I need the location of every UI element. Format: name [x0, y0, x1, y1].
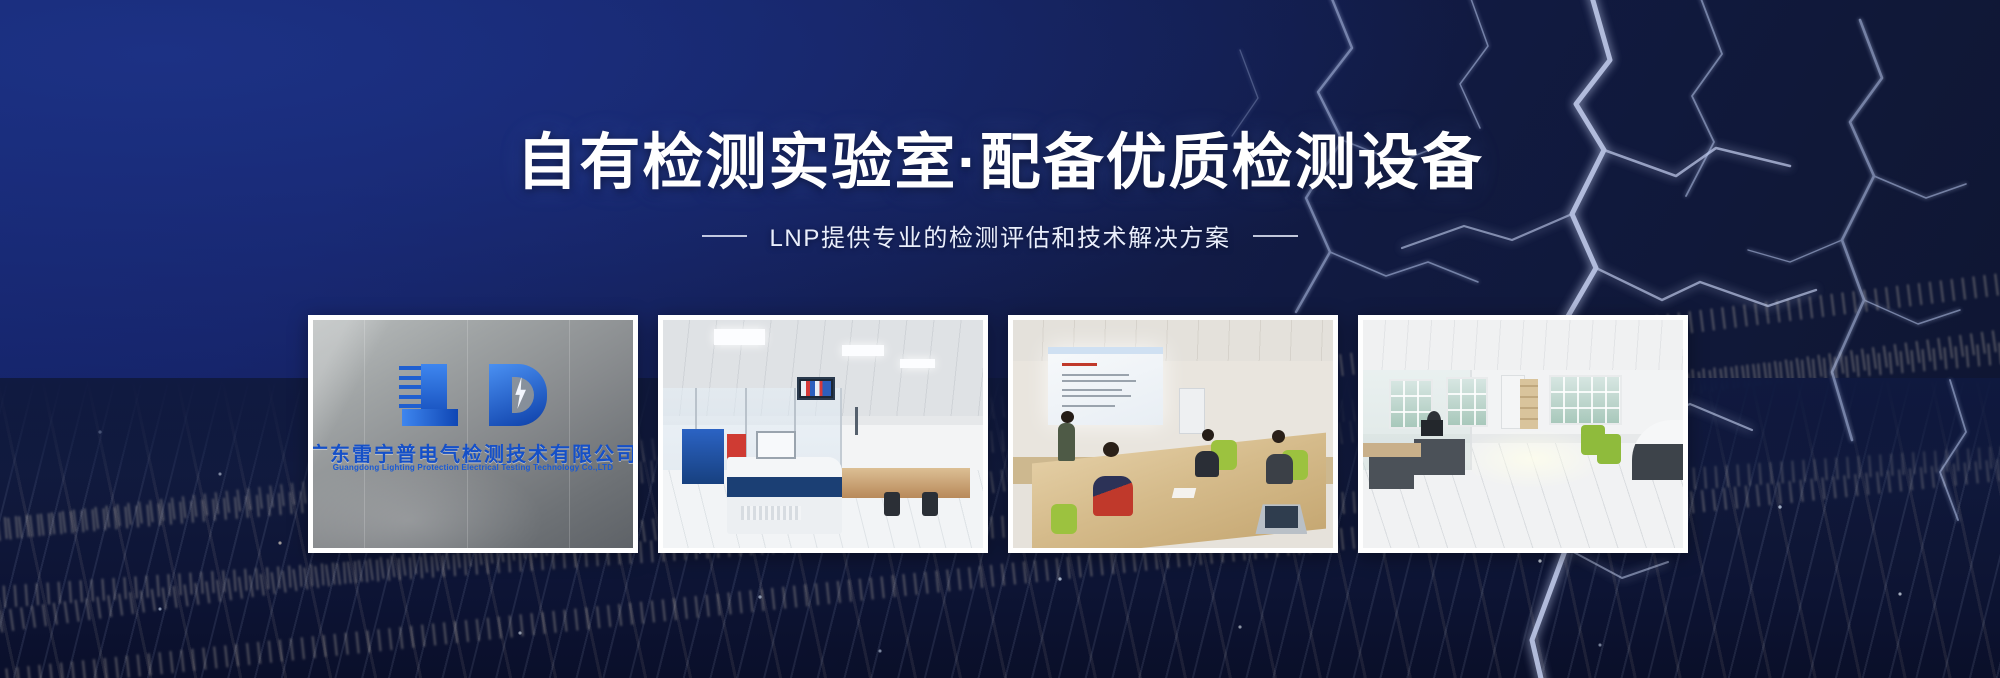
- photo-frame-office-area[interactable]: [1358, 315, 1688, 553]
- hero-banner: 自有检测实验室·配备优质检测设备 LNP提供专业的检测评估和技术解决方案: [0, 0, 2000, 678]
- photo-frame-company-logo-wall[interactable]: 广东雷宁普电气检测技术有限公司 Guangdong Lighting Prote…: [308, 315, 638, 553]
- photo-meeting-room: [1013, 320, 1333, 548]
- lnp-logo-icon: [399, 364, 547, 426]
- left-dash-decoration: [702, 235, 747, 237]
- photo-gallery: 广东雷宁普电气检测技术有限公司 Guangdong Lighting Prote…: [308, 315, 1688, 553]
- photo-frame-testing-laboratory[interactable]: [658, 315, 988, 553]
- banner-subtitle: LNP提供专业的检测评估和技术解决方案: [769, 218, 1230, 253]
- photo-company-logo-wall: 广东雷宁普电气检测技术有限公司 Guangdong Lighting Prote…: [313, 320, 633, 548]
- right-dash-decoration: [1253, 235, 1298, 237]
- banner-headline: 自有检测实验室·配备优质检测设备 LNP提供专业的检测评估和技术解决方案: [0, 128, 2000, 253]
- photo-office-area: [1363, 320, 1683, 548]
- photo-testing-laboratory: [663, 320, 983, 548]
- photo-frame-meeting-room[interactable]: [1008, 315, 1338, 553]
- banner-subtitle-row: LNP提供专业的检测评估和技术解决方案: [0, 218, 2000, 253]
- banner-title: 自有检测实验室·配备优质检测设备: [0, 128, 2000, 196]
- logo-company-name-en: Guangdong Lighting Protection Electrical…: [333, 463, 614, 472]
